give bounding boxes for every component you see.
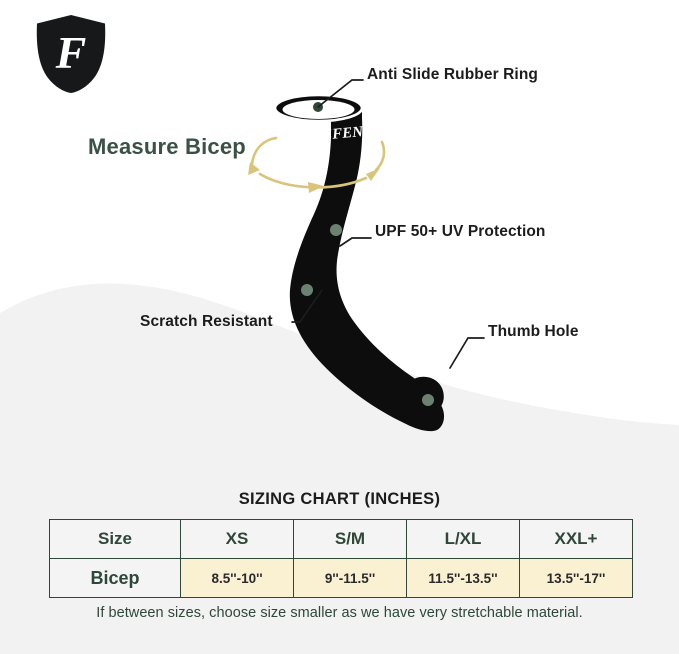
leader-line-thumb-hole: [450, 338, 484, 368]
infographic-canvas: F Farmers DEFENSE: [0, 0, 679, 654]
callout-leader-lines: [0, 0, 679, 460]
column-header-lxl: L/XL: [407, 520, 520, 559]
table-row: Bicep 8.5''-10'' 9''-11.5'' 11.5''-13.5'…: [50, 559, 633, 598]
sizing-footnote: If between sizes, choose size smaller as…: [0, 605, 679, 621]
cell-bicep-sm: 9''-11.5'': [294, 559, 407, 598]
column-header-xxl: XXL+: [520, 520, 633, 559]
column-header-xs: XS: [181, 520, 294, 559]
table-header-row: Size XS S/M L/XL XXL+: [50, 520, 633, 559]
cell-bicep-xxl: 13.5''-17'': [520, 559, 633, 598]
callout-label-upf-protection: UPF 50+ UV Protection: [375, 224, 546, 240]
leader-line-upf: [340, 238, 371, 246]
column-header-size: Size: [50, 520, 181, 559]
callout-label-scratch-resistant: Scratch Resistant: [140, 314, 273, 330]
callout-label-anti-slide-rubber-ring: Anti Slide Rubber Ring: [367, 67, 538, 83]
row-label-bicep: Bicep: [50, 559, 181, 598]
sizing-chart-table: Size XS S/M L/XL XXL+ Bicep 8.5''-10'' 9…: [49, 519, 633, 598]
cell-bicep-xs: 8.5''-10'': [181, 559, 294, 598]
measure-bicep-label: Measure Bicep: [88, 136, 246, 158]
leader-line-rubber-ring: [318, 80, 363, 107]
column-header-sm: S/M: [294, 520, 407, 559]
leader-line-scratch: [292, 290, 322, 322]
sizing-chart-title: SIZING CHART (INCHES): [0, 490, 679, 509]
cell-bicep-lxl: 11.5''-13.5'': [407, 559, 520, 598]
callout-label-thumb-hole: Thumb Hole: [488, 324, 579, 340]
